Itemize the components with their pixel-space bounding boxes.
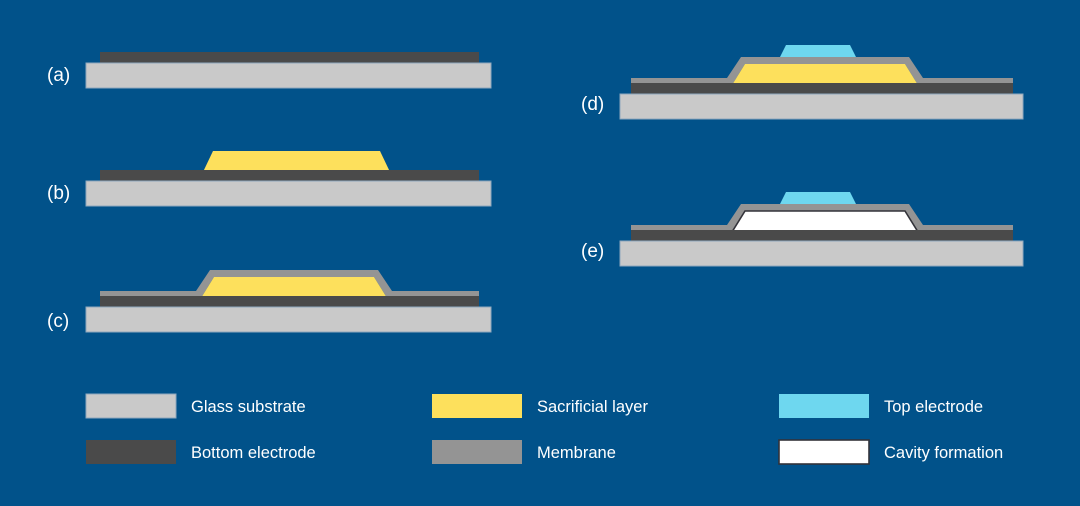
panel-a-label: (a) bbox=[47, 65, 70, 86]
legend-item-glass-substrate: Glass substrate bbox=[86, 394, 306, 418]
panel-c-glass-substrate bbox=[86, 307, 491, 332]
panel-d-glass-substrate bbox=[620, 94, 1023, 119]
legend-item-cavity-formation: Cavity formation bbox=[779, 440, 1003, 464]
figure-canvas: (a) (b) (c) (d) bbox=[0, 0, 1080, 506]
panel-e-glass-substrate bbox=[620, 241, 1023, 266]
legend-swatch-top-electrode bbox=[779, 394, 869, 418]
panel-b-label: (b) bbox=[47, 183, 70, 204]
panel-e-bottom-electrode bbox=[631, 230, 1013, 241]
legend-swatch-sacrificial-layer bbox=[432, 394, 522, 418]
panel-c-label: (c) bbox=[47, 311, 69, 332]
panel-c-bottom-electrode bbox=[100, 296, 479, 307]
panel-d-top-electrode bbox=[780, 45, 856, 57]
legend-item-top-electrode: Top electrode bbox=[779, 394, 983, 418]
legend-swatch-glass-substrate bbox=[86, 394, 176, 418]
legend-swatch-cavity-formation bbox=[779, 440, 869, 464]
panel-a-bottom-electrode bbox=[100, 52, 479, 63]
legend-label-top-electrode: Top electrode bbox=[884, 398, 983, 416]
legend-label-cavity-formation: Cavity formation bbox=[884, 444, 1003, 462]
panel-e-cavity-formation bbox=[732, 211, 918, 232]
legend: Glass substrate Bottom electrode Sacrifi… bbox=[86, 394, 1003, 464]
panel-b-glass-substrate bbox=[86, 181, 491, 206]
panel-a: (a) bbox=[47, 52, 491, 88]
legend-item-bottom-electrode: Bottom electrode bbox=[86, 440, 316, 464]
panel-d-bottom-electrode bbox=[631, 83, 1013, 94]
panel-b-sacrificial-layer bbox=[203, 151, 390, 172]
panel-e-top-electrode bbox=[780, 192, 856, 204]
legend-swatch-bottom-electrode bbox=[86, 440, 176, 464]
panel-d-label: (d) bbox=[581, 94, 604, 115]
legend-item-sacrificial-layer: Sacrificial layer bbox=[432, 394, 648, 418]
panel-d-sacrificial-layer bbox=[732, 64, 918, 85]
panel-c: (c) bbox=[47, 270, 491, 332]
panel-e: (e) bbox=[581, 192, 1023, 266]
legend-label-membrane: Membrane bbox=[537, 444, 616, 462]
legend-item-membrane: Membrane bbox=[432, 440, 616, 464]
panel-e-label: (e) bbox=[581, 241, 604, 262]
process-flow-figure: (a) (b) (c) (d) bbox=[0, 0, 1080, 506]
panel-d: (d) bbox=[581, 45, 1023, 119]
legend-label-sacrificial-layer: Sacrificial layer bbox=[537, 398, 648, 416]
legend-swatch-membrane bbox=[432, 440, 522, 464]
panel-c-sacrificial-layer bbox=[201, 277, 387, 298]
panel-a-glass-substrate bbox=[86, 63, 491, 88]
panel-b: (b) bbox=[47, 151, 491, 206]
panel-b-bottom-electrode bbox=[100, 170, 479, 181]
legend-label-bottom-electrode: Bottom electrode bbox=[191, 444, 316, 462]
legend-label-glass-substrate: Glass substrate bbox=[191, 398, 306, 416]
